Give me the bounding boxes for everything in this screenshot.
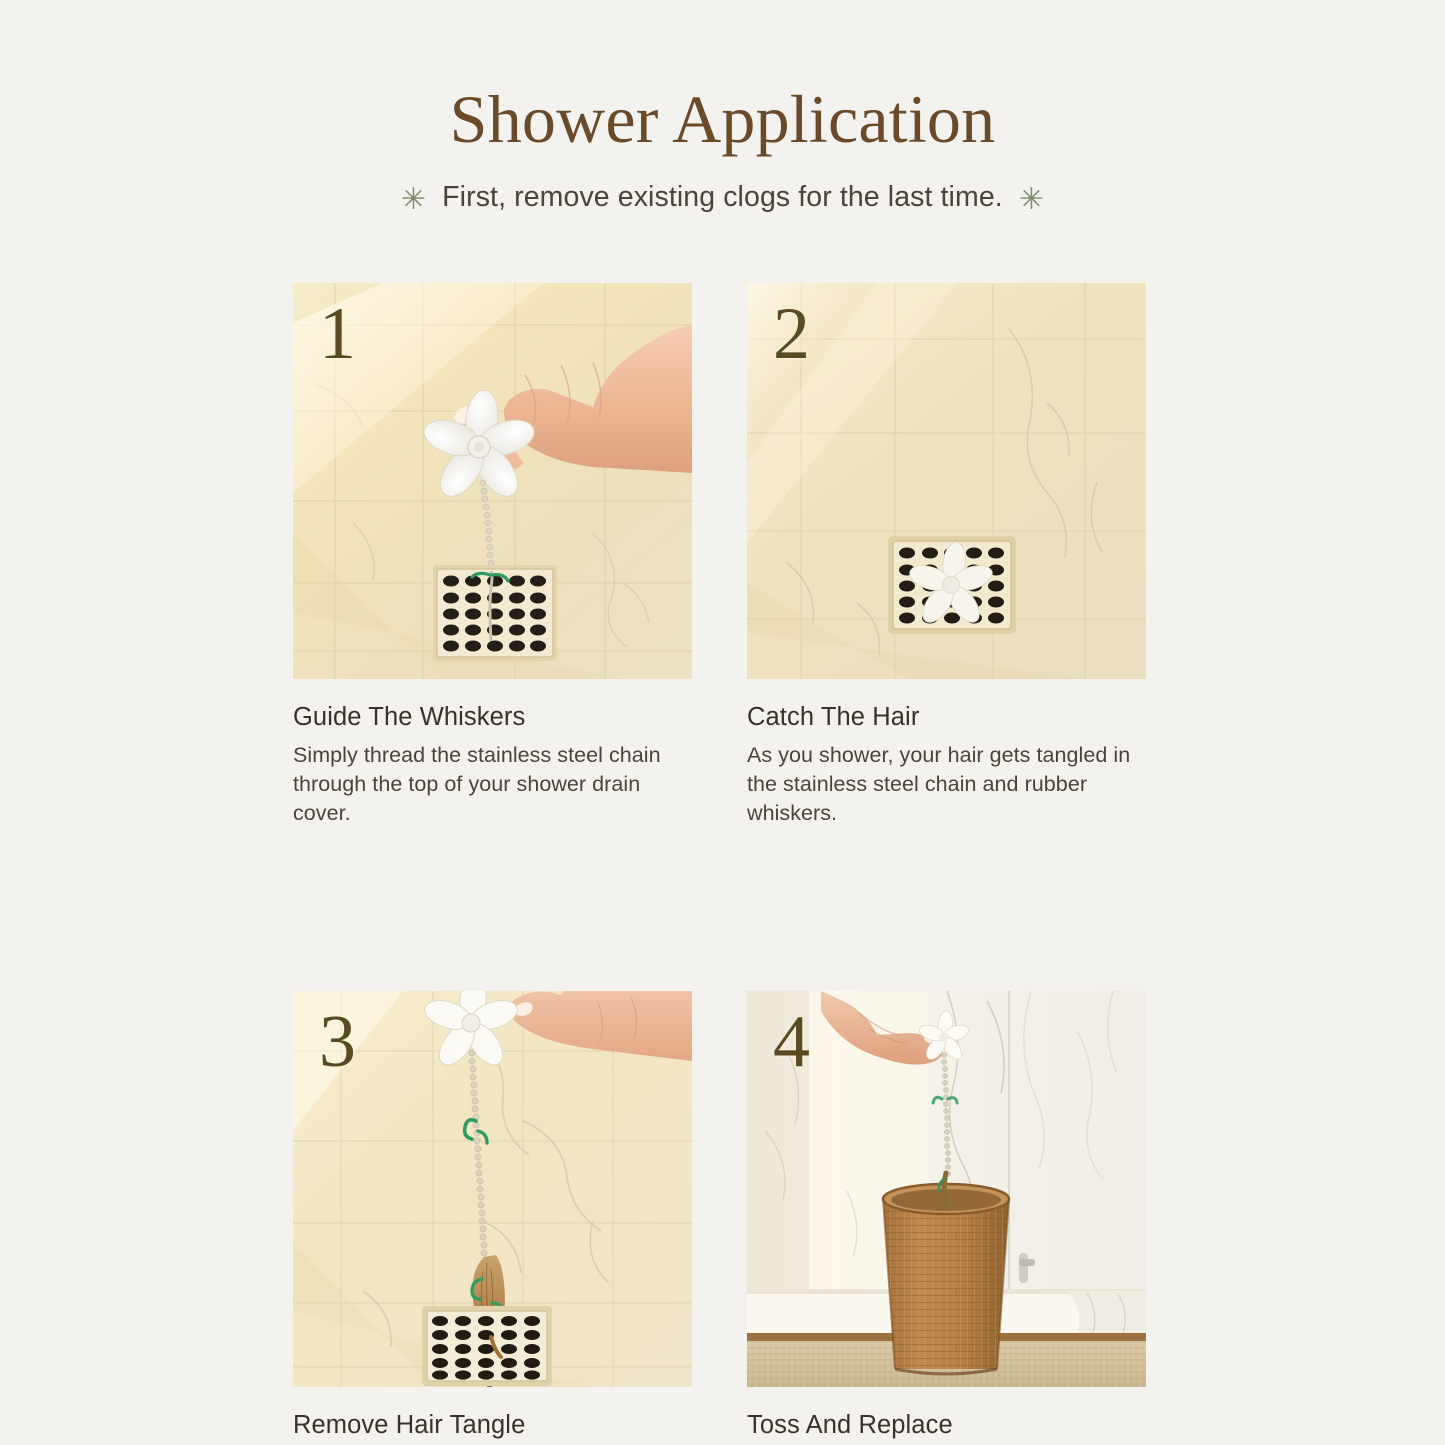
step-1-caption: Guide The Whiskers Simply thread the sta…	[293, 679, 692, 827]
step-2-title: Catch The Hair	[747, 703, 1146, 732]
step-card-3: 3 Remove Hair Tangle After 2-4 months, t…	[293, 991, 692, 1445]
step-3-caption: Remove Hair Tangle After 2-4 months, the…	[293, 1387, 692, 1445]
asterisk-decoration-right-icon: ✳	[1019, 185, 1044, 215]
page-subtitle: First, remove existing clogs for the las…	[442, 181, 1003, 214]
shower-application-infographic: Shower Application ✳ First, remove exist…	[0, 0, 1445, 1445]
step-card-1: 1 Guide The Whiskers Simply thread the s…	[293, 283, 692, 827]
step-card-4: 4 Toss And Replace Toss it in the trash,…	[747, 991, 1146, 1445]
step-4-caption: Toss And Replace Toss it in the trash, a…	[747, 1387, 1146, 1445]
steps-grid: 1 Guide The Whiskers Simply thread the s…	[293, 283, 1146, 1445]
step-2-description: As you shower, your hair gets tangled in…	[747, 741, 1146, 827]
step-card-2: 2 Catch The Hair As you shower, your hai…	[747, 283, 1146, 827]
subtitle-row: ✳ First, remove existing clogs for the l…	[0, 181, 1445, 214]
step-1-description: Simply thread the stainless steel chain …	[293, 741, 692, 827]
step-2-photo: 2	[747, 283, 1146, 679]
step-1-photo: 1	[293, 283, 692, 679]
step-3-photo: 3	[293, 991, 692, 1387]
step-4-photo: 4	[747, 991, 1146, 1387]
page-title: Shower Application	[0, 84, 1445, 155]
step-3-title: Remove Hair Tangle	[293, 1411, 692, 1440]
step-2-caption: Catch The Hair As you shower, your hair …	[747, 679, 1146, 827]
step-4-title: Toss And Replace	[747, 1411, 1146, 1440]
step-1-title: Guide The Whiskers	[293, 703, 692, 732]
page-header: Shower Application ✳ First, remove exist…	[0, 0, 1445, 214]
asterisk-decoration-left-icon: ✳	[401, 185, 426, 215]
